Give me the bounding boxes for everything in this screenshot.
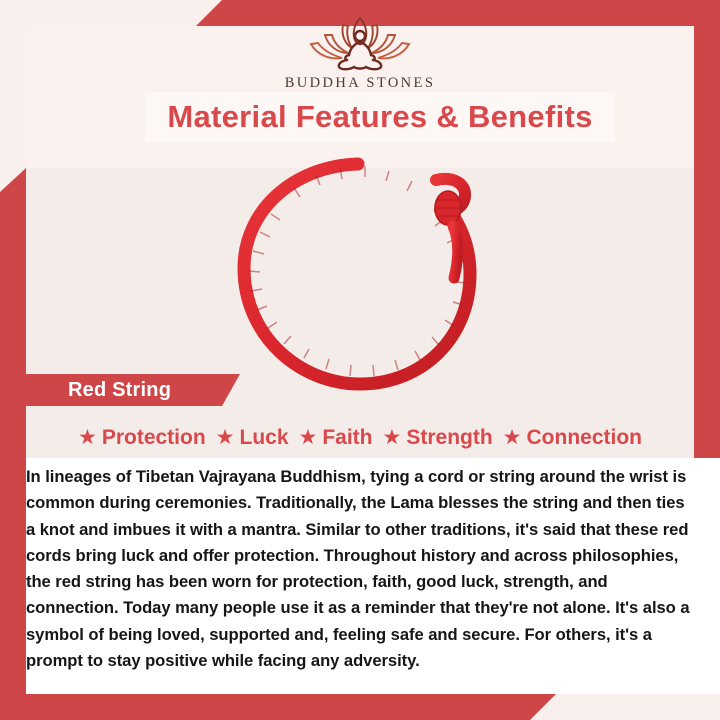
frame-bottom-accent [0,694,556,720]
star-icon: ★ [216,427,235,448]
lotus-meditation-icon [301,14,419,72]
keyword-list: ★ Protection ★ Luck ★ Faith ★ Strength ★… [26,419,694,455]
frame-left-accent [0,168,26,720]
product-image [208,150,518,400]
keyword-label: Connection [527,427,643,448]
product-label-ribbon: Red String [26,374,240,406]
page-title: Material Features & Benefits [167,99,592,135]
product-label: Red String [68,379,171,402]
keyword-item: ★ Faith [299,427,373,448]
description-text: In lineages of Tibetan Vajrayana Buddhis… [26,464,690,674]
title-banner: Material Features & Benefits [145,92,615,142]
keyword-item: ★ Protection [78,427,206,448]
star-icon: ★ [383,427,402,448]
keyword-label: Protection [102,427,206,448]
description-panel: In lineages of Tibetan Vajrayana Buddhis… [26,458,720,694]
keyword-item: ★ Strength [383,427,493,448]
infographic-poster: BUDDHA STONES Material Features & Benefi… [0,0,720,720]
keyword-item: ★ Luck [216,427,289,448]
keyword-label: Strength [406,427,492,448]
brand-name: BUDDHA STONES [285,75,436,92]
keyword-item: ★ Connection [503,427,642,448]
brand-logo: BUDDHA STONES [0,14,720,92]
keyword-label: Luck [240,427,289,448]
keyword-label: Faith [322,427,372,448]
star-icon: ★ [299,427,318,448]
star-icon: ★ [503,427,522,448]
star-icon: ★ [78,427,97,448]
